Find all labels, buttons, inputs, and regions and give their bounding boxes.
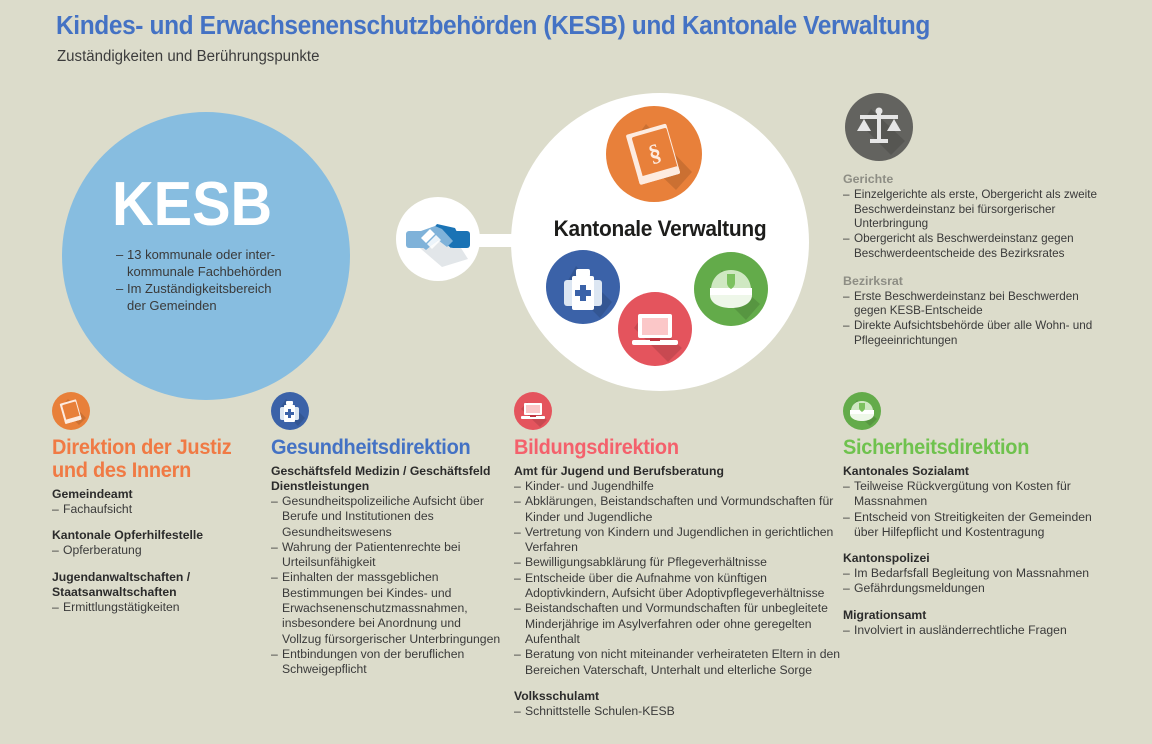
bullet-dash: – xyxy=(116,246,127,280)
police-cap-icon xyxy=(694,252,768,326)
list-item-label: Entscheide über die Aufnahme von künftig… xyxy=(525,571,844,602)
sub-heading: Gemeindeamt xyxy=(52,487,267,502)
medical-kit-icon xyxy=(271,392,309,430)
list-item: – Wahrung der Patientenrechte bei Urteil… xyxy=(271,540,503,571)
sub-block: Kantonale Opferhilfestelle – Opferberatu… xyxy=(52,528,267,558)
bullet-dash: – xyxy=(514,704,525,719)
list-item-label: Abklärungen, Beistandschaften und Vormun… xyxy=(525,494,844,525)
list-item: – Involviert in ausländerrechtliche Frag… xyxy=(843,623,1098,638)
list-item: – Gesundheitspolizeiliche Aufsicht über … xyxy=(271,494,503,540)
column-title: Bildungsdirektion xyxy=(514,436,828,459)
column-bildungsdirektion: Bildungsdirektion Amt für Jugend und Ber… xyxy=(514,392,844,730)
sub-block: Kantonspolizei – Im Bedarfsfall Begleitu… xyxy=(843,551,1098,597)
law-book-icon: § xyxy=(606,106,702,202)
list-item-label: 13 kommunale oder inter-kommunale Fachbe… xyxy=(127,246,326,280)
sub-heading: Geschäftsfeld Medizin / Geschäftsfeld Di… xyxy=(271,464,503,494)
list-item-label: Gefährdungsmeldungen xyxy=(854,581,1098,596)
list-item-label: Obergericht als Beschwerdeinstanz gegen … xyxy=(854,232,1098,262)
sub-block: Migrationsamt – Involviert in ausländerr… xyxy=(843,608,1098,638)
list-item: – Ermittlungstätigkeiten xyxy=(52,600,267,615)
list-item: – Im Zuständigkeitsbereichder Gemeinden xyxy=(116,280,326,314)
bullet-dash: – xyxy=(843,581,854,596)
list-item: – Einhalten der massgeblichen Bestimmung… xyxy=(271,570,503,646)
page-title: Kindes- und Erwachsenenschutzbehörden (K… xyxy=(56,12,930,41)
list-item-label: Kinder- und Jugendhilfe xyxy=(525,479,844,494)
bullet-dash: – xyxy=(843,319,854,349)
courts-block: Gerichte – Einzelgerichte als erste, Obe… xyxy=(843,172,1098,262)
courts-section: Gerichte – Einzelgerichte als erste, Obe… xyxy=(843,172,1098,349)
list-item: – Vertretung von Kindern und Jugendliche… xyxy=(514,525,844,556)
list-item-label: Opferberatung xyxy=(63,543,267,558)
sub-heading: Kantonale Opferhilfestelle xyxy=(52,528,267,543)
column-title: Sicherheitsdirektion xyxy=(843,436,1085,459)
bullet-dash: – xyxy=(843,188,854,232)
list-item: – Beistandschaften und Vormundschaften f… xyxy=(514,601,844,647)
bullet-dash: – xyxy=(843,510,854,541)
bezirksrat-block: Bezirksrat – Erste Beschwerdeinstanz bei… xyxy=(843,274,1098,349)
list-item-label: Im Bedarfsfall Begleitung von Massnahmen xyxy=(854,566,1098,581)
column-title: Direktion der Justiz und des Innern xyxy=(52,436,256,482)
list-item-label: Ermittlungstätigkeiten xyxy=(63,600,267,615)
bullet-dash: – xyxy=(843,566,854,581)
list-item: – Kinder- und Jugendhilfe xyxy=(514,479,844,494)
list-item: – Fachaufsicht xyxy=(52,502,267,517)
infographic-canvas: Kindes- und Erwachsenenschutzbehörden (K… xyxy=(0,0,1152,744)
list-item-label: Erste Beschwerdeinstanz bei Beschwerden … xyxy=(854,290,1098,320)
list-item-label: Entbindungen von der beruflichen Schweig… xyxy=(282,647,503,678)
sub-block: Amt für Jugend und Berufsberatung – Kind… xyxy=(514,464,844,678)
list-item: – Teilweise Rückvergütung von Kosten für… xyxy=(843,479,1098,510)
list-item-label: Direkte Aufsichtsbehörde über alle Wohn-… xyxy=(854,319,1098,349)
bullet-dash: – xyxy=(514,647,525,678)
list-item: – Erste Beschwerdeinstanz bei Beschwerde… xyxy=(843,290,1098,320)
sub-block: Gemeindeamt – Fachaufsicht xyxy=(52,487,267,517)
medical-kit-icon xyxy=(546,250,620,324)
list-item-label: Beratung von nicht miteinander verheirat… xyxy=(525,647,844,678)
bullet-dash: – xyxy=(514,601,525,647)
list-item-label: Teilweise Rückvergütung von Kosten für M… xyxy=(854,479,1098,510)
kesb-label: KESB xyxy=(112,174,272,236)
bullet-dash: – xyxy=(843,479,854,510)
bullet-dash: – xyxy=(514,525,525,556)
sub-heading: Amt für Jugend und Berufsberatung xyxy=(514,464,844,479)
list-item-label: Schnittstelle Schulen-KESB xyxy=(525,704,844,719)
kantonale-verwaltung-label: Kantonale Verwaltung xyxy=(518,216,801,242)
list-item: – 13 kommunale oder inter-kommunale Fach… xyxy=(116,246,326,280)
list-item-label: Vertretung von Kindern und Jugendlichen … xyxy=(525,525,844,556)
sub-heading: Kantonspolizei xyxy=(843,551,1098,566)
bullet-dash: – xyxy=(271,494,282,540)
sub-block: Jugendanwaltschaften / Staatsanwaltschaf… xyxy=(52,570,267,615)
page-subtitle: Zuständigkeiten und Berührungspunkte xyxy=(57,48,319,66)
list-item: – Im Bedarfsfall Begleitung von Massnahm… xyxy=(843,566,1098,581)
bullet-dash: – xyxy=(514,479,525,494)
list-item: – Schnittstelle Schulen-KESB xyxy=(514,704,844,719)
column-gesundheitsdirektion: Gesundheitsdirektion Geschäftsfeld Mediz… xyxy=(271,392,503,689)
list-item-label: Im Zuständigkeitsbereichder Gemeinden xyxy=(127,280,326,314)
list-item: – Einzelgerichte als erste, Obergericht … xyxy=(843,188,1098,232)
scales-of-justice-icon xyxy=(845,93,913,161)
police-cap-icon xyxy=(843,392,881,430)
list-item: – Direkte Aufsichtsbehörde über alle Woh… xyxy=(843,319,1098,349)
laptop-icon xyxy=(618,292,692,366)
list-item: – Opferberatung xyxy=(52,543,267,558)
bullet-dash: – xyxy=(271,647,282,678)
handshake-icon xyxy=(396,197,480,281)
spacer xyxy=(843,262,1098,274)
list-item: – Obergericht als Beschwerdeinstanz gege… xyxy=(843,232,1098,262)
sub-heading: Kantonales Sozialamt xyxy=(843,464,1098,479)
bullet-dash: – xyxy=(116,280,127,314)
bullet-dash: – xyxy=(514,555,525,570)
sub-heading: Volksschulamt xyxy=(514,689,844,704)
sub-block: Geschäftsfeld Medizin / Geschäftsfeld Di… xyxy=(271,464,503,678)
sub-heading: Migrationsamt xyxy=(843,608,1098,623)
bullet-dash: – xyxy=(52,600,63,615)
sub-block: Kantonales Sozialamt – Teilweise Rückver… xyxy=(843,464,1098,540)
column-sicherheitsdirektion: Sicherheitsdirektion Kantonales Sozialam… xyxy=(843,392,1098,649)
bullet-dash: – xyxy=(514,494,525,525)
sub-block: Volksschulamt – Schnittstelle Schulen-KE… xyxy=(514,689,844,719)
laptop-icon xyxy=(514,392,552,430)
bullet-dash: – xyxy=(52,502,63,517)
kesb-bullet-list: – 13 kommunale oder inter-kommunale Fach… xyxy=(116,246,326,314)
list-item-label: Bewilligungsabklärung für Pflegeverhältn… xyxy=(525,555,844,570)
section-heading: Gerichte xyxy=(843,172,1098,187)
list-item-label: Beistandschaften und Vormundschaften für… xyxy=(525,601,844,647)
list-item: – Bewilligungsabklärung für Pflegeverhäl… xyxy=(514,555,844,570)
bullet-dash: – xyxy=(514,571,525,602)
list-item-label: Gesundheitspolizeiliche Aufsicht über Be… xyxy=(282,494,503,540)
bullet-dash: – xyxy=(271,540,282,571)
list-item-label: Entscheid von Streitigkeiten der Gemeind… xyxy=(854,510,1098,541)
list-item: – Beratung von nicht miteinander verheir… xyxy=(514,647,844,678)
bullet-dash: – xyxy=(271,570,282,646)
bullet-dash: – xyxy=(843,290,854,320)
list-item-label: Involviert in ausländerrechtliche Fragen xyxy=(854,623,1098,638)
list-item-label: Fachaufsicht xyxy=(63,502,267,517)
bullet-dash: – xyxy=(52,543,63,558)
list-item-label: Wahrung der Patientenrechte bei Urteilsu… xyxy=(282,540,503,571)
column-title: Gesundheitsdirektion xyxy=(271,436,491,459)
list-item-label: Einhalten der massgeblichen Bestimmungen… xyxy=(282,570,503,646)
sub-heading: Jugendanwaltschaften / Staatsanwaltschaf… xyxy=(52,570,267,600)
section-heading: Bezirksrat xyxy=(843,274,1098,289)
list-item-label: Einzelgerichte als erste, Obergericht al… xyxy=(854,188,1098,232)
bullet-dash: – xyxy=(843,232,854,262)
list-item: – Entscheide über die Aufnahme von künft… xyxy=(514,571,844,602)
list-item: – Gefährdungsmeldungen xyxy=(843,581,1098,596)
list-item: – Abklärungen, Beistandschaften und Vorm… xyxy=(514,494,844,525)
column-direktion-der-justiz: Direktion der Justiz und des Innern Geme… xyxy=(52,392,267,626)
list-item: – Entbindungen von der beruflichen Schwe… xyxy=(271,647,503,678)
list-item: – Entscheid von Streitigkeiten der Gemei… xyxy=(843,510,1098,541)
bullet-dash: – xyxy=(843,623,854,638)
law-book-icon xyxy=(52,392,90,430)
